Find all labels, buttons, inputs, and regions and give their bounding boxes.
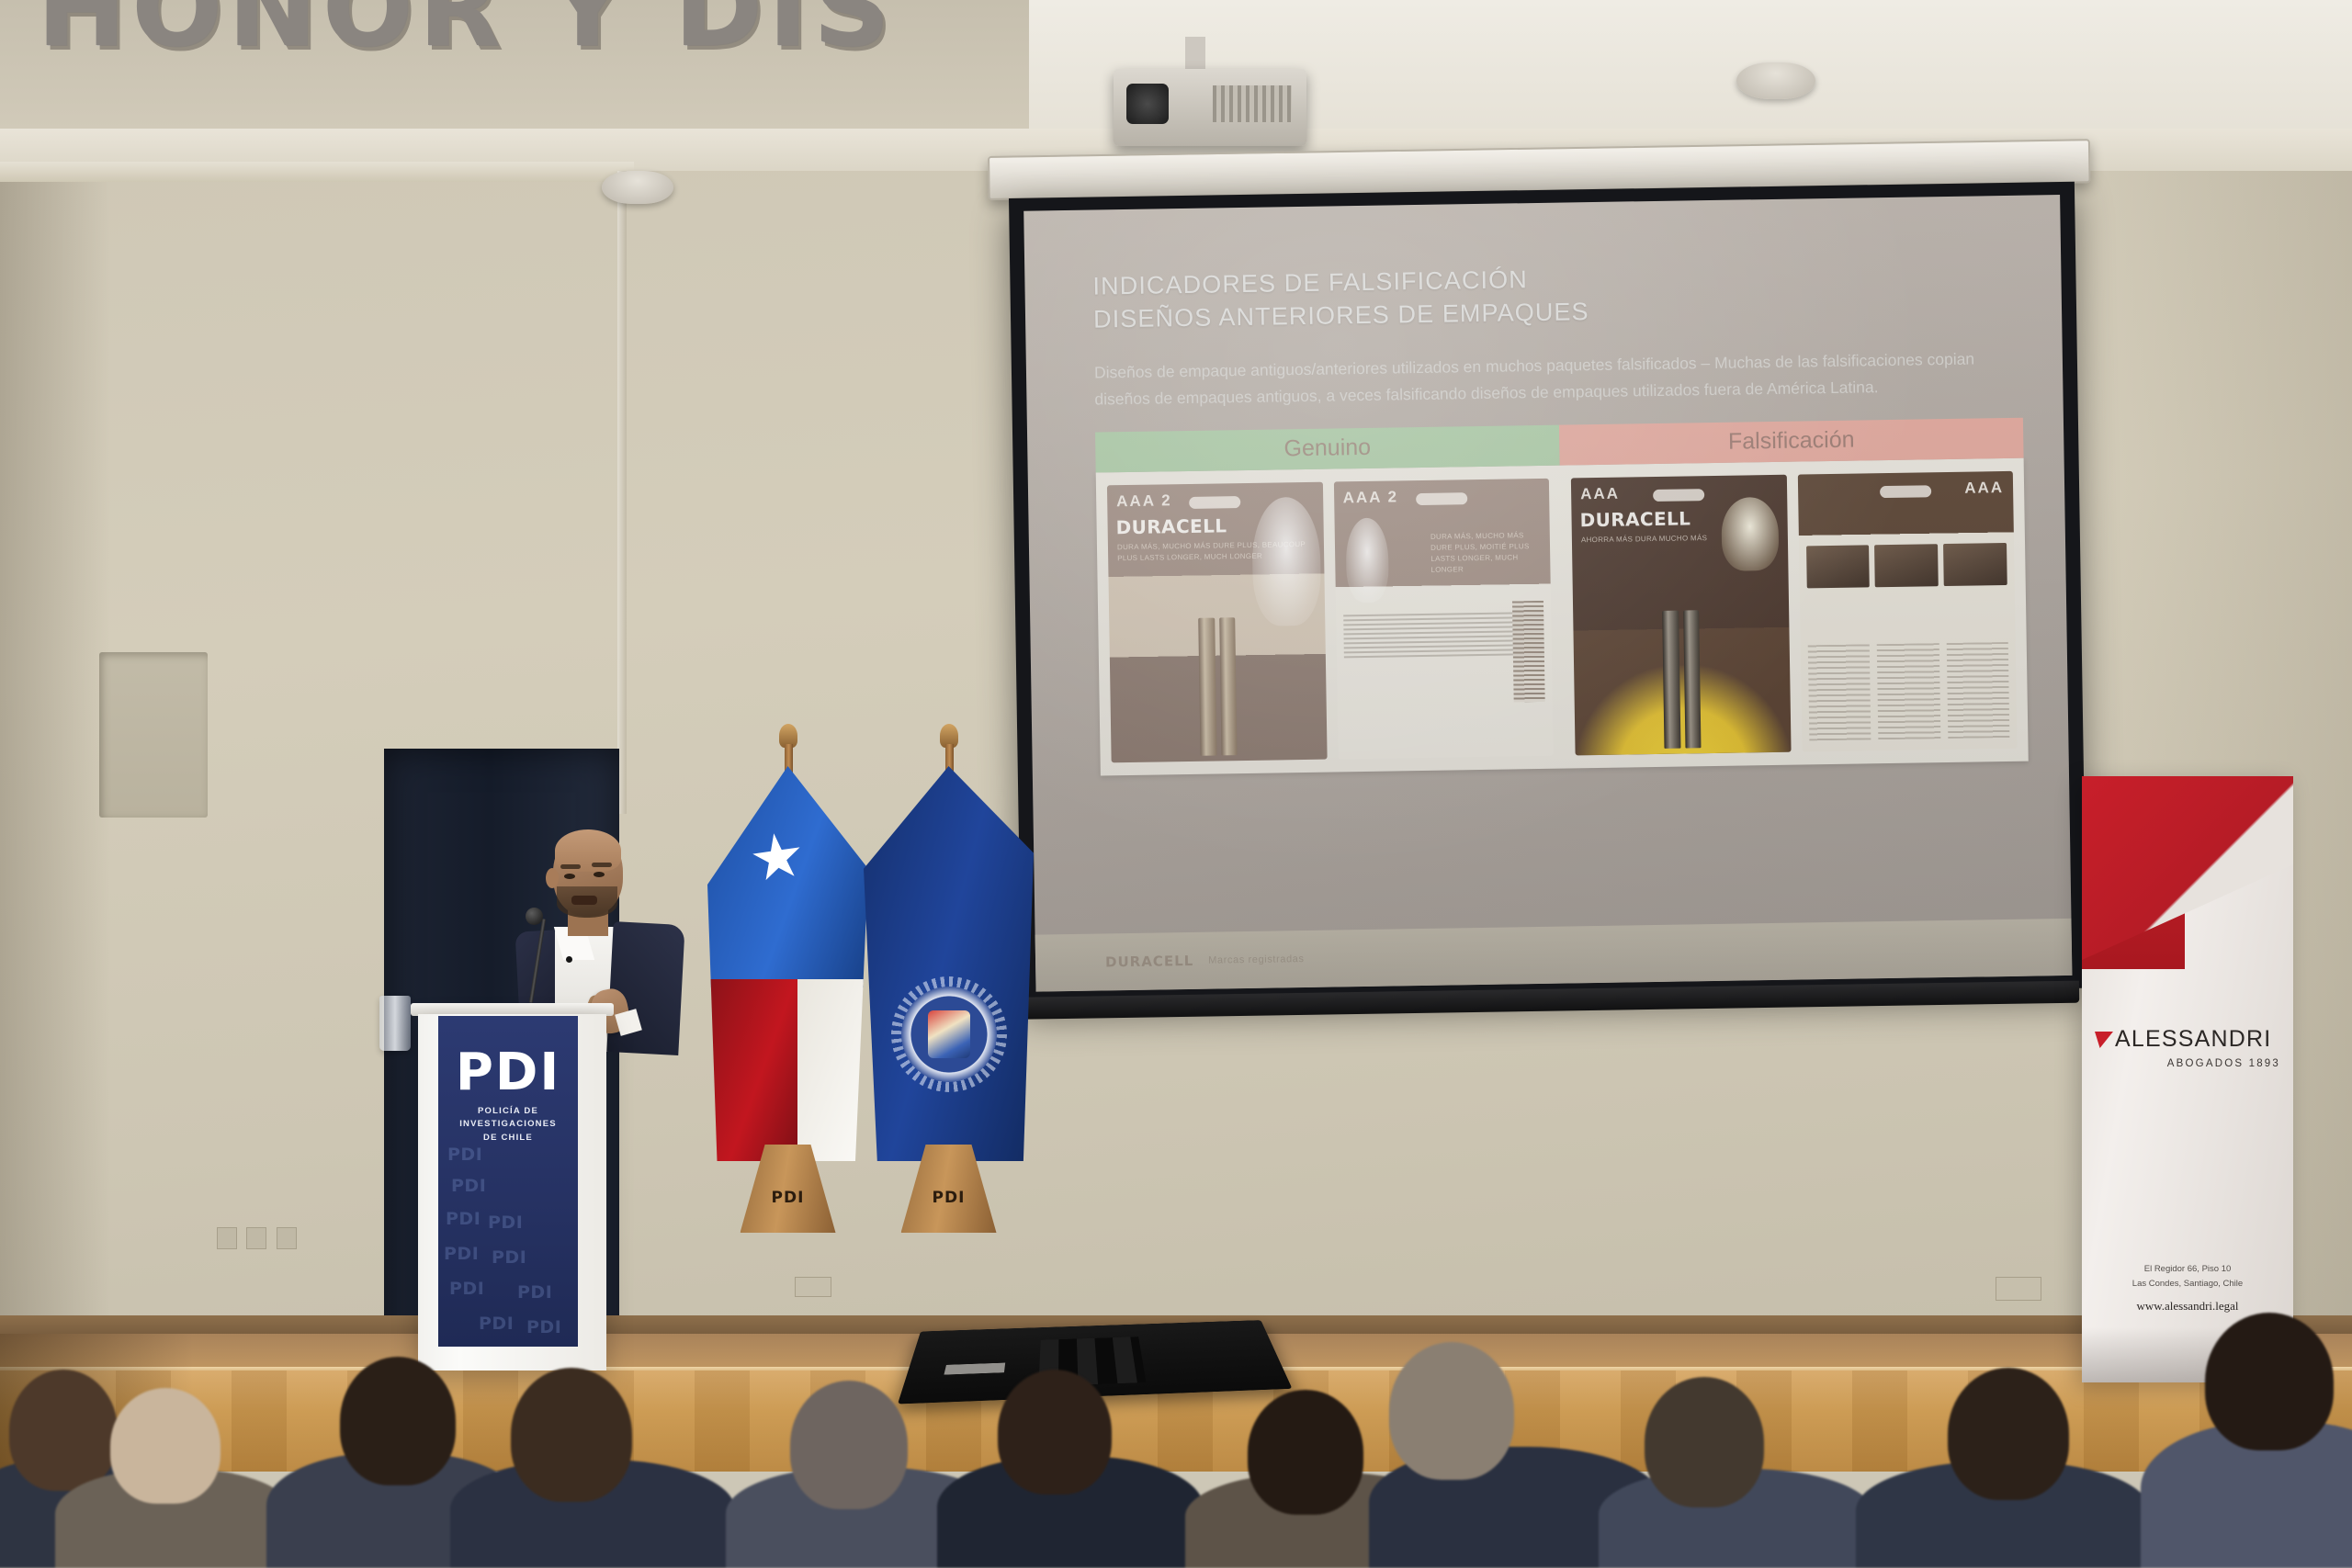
audience-head — [110, 1388, 220, 1504]
audience-head — [790, 1381, 908, 1509]
flag-red-band — [707, 979, 801, 1161]
banner-address: El Regidor 66, Piso 10 Las Condes, Santi… — [2082, 1262, 2293, 1316]
pdi-subtitle-line1: POLICÍA DE INVESTIGACIONES — [438, 1105, 578, 1132]
lectern-branding-panel: PDI POLICÍA DE INVESTIGACIONES DE CHILE … — [438, 1016, 578, 1347]
pdi-watermark: PDI — [447, 1145, 482, 1165]
flag-blue-canton — [707, 766, 868, 987]
pdi-subtitle-line2: DE CHILE — [438, 1132, 578, 1145]
package-size-label: AAA 2 — [1343, 488, 1399, 507]
pdi-watermark: PDI — [488, 1213, 523, 1233]
audience — [0, 1329, 2352, 1568]
jacket-right — [606, 921, 684, 1055]
package-brand-label: DURACELL — [1579, 507, 1690, 531]
banner-logo: ALESSANDRI ABOGADOS 1893 — [2095, 1026, 2284, 1069]
mouth — [571, 896, 597, 905]
alessandri-triangle-icon — [2095, 1032, 2113, 1048]
ceiling-speaker-icon — [602, 171, 673, 204]
venue-motto-sign: HONOR Y DIS — [37, 0, 895, 71]
audience-head — [1248, 1390, 1363, 1515]
wall-outlet — [217, 1227, 237, 1249]
banner-tagline: ABOGADOS 1893 — [2095, 1058, 2284, 1069]
pdi-watermark: PDI — [446, 1209, 481, 1229]
slide-footer-note: Marcas registradas — [1208, 953, 1305, 966]
eye — [594, 872, 605, 877]
fake-packages-column: AAA DURACELL AHORRA MÁS DURA MUCHO MÁS A… — [1560, 458, 2029, 769]
banner-address-line2: Las Condes, Santiago, Chile — [2082, 1277, 2293, 1292]
lectern-body: PDI POLICÍA DE INVESTIGACIONES DE CHILE … — [418, 1014, 606, 1371]
duracell-bunny-icon — [1721, 497, 1779, 571]
duracell-bunny-icon — [1345, 518, 1388, 604]
wall-outlet-right — [1996, 1277, 2041, 1301]
duracell-bunny-icon — [1251, 497, 1321, 626]
pdi-logo-text: PDI — [438, 1047, 578, 1099]
fake-package-front: AAA DURACELL AHORRA MÁS DURA MUCHO MÁS — [1571, 475, 1791, 756]
chile-flag-cloth — [707, 766, 868, 1161]
pdi-watermark: PDI — [451, 1176, 486, 1196]
audience-head — [340, 1357, 456, 1485]
audience-head — [511, 1368, 632, 1502]
hang-hole — [1189, 496, 1240, 509]
genuine-package-back: AAA 2 DURA MÁS, MUCHO MÁS DURE PLUS, MOI… — [1333, 479, 1553, 760]
package-thumbnails — [1806, 543, 2007, 588]
audience-head — [2205, 1313, 2334, 1450]
fake-column-header: Falsificación — [1559, 418, 2024, 466]
ceiling-speaker-icon — [1736, 62, 1815, 99]
genuine-package-front: AAA 2 DURACELL DURA MÁS, MUCHO MÁS DURE … — [1107, 482, 1327, 763]
slide-footer: DURACELL Marcas registradas — [1035, 919, 2073, 992]
ear — [546, 868, 559, 888]
package-size-label: AAA — [1964, 479, 2004, 498]
pdi-subtitle: POLICÍA DE INVESTIGACIONES DE CHILE — [438, 1105, 578, 1145]
battery-cells — [1662, 610, 1701, 749]
comparison-image-row: AAA 2 DURACELL DURA MÁS, MUCHO MÁS DURE … — [1096, 458, 2029, 776]
wall-corner-edge — [617, 171, 627, 814]
microphone-icon — [526, 908, 543, 925]
lapel-microphone-icon — [566, 956, 572, 963]
genuine-packages-column: AAA 2 DURACELL DURA MÁS, MUCHO MÁS DURE … — [1096, 466, 1565, 776]
slide-content: INDICADORES DE FALSIFICACIÓN DISEÑOS ANT… — [1023, 195, 2072, 992]
package-tagline: AHORRA MÁS DURA MUCHO MÁS — [1581, 533, 1707, 546]
chile-flag: PDI — [707, 744, 868, 1231]
banner-red-diagonal — [2082, 776, 2293, 960]
package-size-label: AAA 2 — [1116, 491, 1172, 511]
projector-mount — [1185, 37, 1205, 73]
eye — [564, 874, 575, 879]
pdi-emblem-icon — [901, 987, 997, 1082]
flag-base-plaque: PDI — [772, 1189, 805, 1207]
slide-title: INDICADORES DE FALSIFICACIÓN DISEÑOS ANT… — [1092, 256, 2008, 336]
wall-outlet-group — [217, 1227, 325, 1251]
audience-head — [1389, 1342, 1514, 1480]
pdi-watermark: PDI — [517, 1282, 552, 1303]
pdi-watermark: PDI — [449, 1279, 484, 1299]
banner-address-line1: El Regidor 66, Piso 10 — [2082, 1262, 2293, 1277]
pdi-flag-cloth — [864, 766, 1034, 1161]
projector-lens-icon — [1126, 84, 1169, 124]
wall-shadow-left — [0, 171, 110, 1393]
pdi-watermark-pattern: PDI PDI PDI PDI PDI PDI PDI PDI PDI PDI — [438, 1145, 578, 1347]
pdi-watermark: PDI — [492, 1247, 526, 1268]
lectern: PDI POLICÍA DE INVESTIGACIONES DE CHILE … — [418, 1003, 606, 1371]
hang-hole — [1416, 492, 1467, 505]
barcode-icon — [1512, 601, 1545, 703]
ceiling-projector — [1114, 69, 1306, 146]
slide-body-text: Diseños de empaque antiguos/anteriores u… — [1094, 345, 1996, 412]
projection-screen: INDICADORES DE FALSIFICACIÓN DISEÑOS ANT… — [1009, 182, 2087, 1005]
audience-head — [1948, 1368, 2069, 1500]
pdi-watermark: PDI — [444, 1244, 479, 1264]
hang-hole — [1653, 489, 1704, 502]
package-tagline: DURA MÁS, MUCHO MÁS DURE PLUS, MOITIÉ PL… — [1430, 530, 1543, 576]
projector-vent — [1213, 85, 1292, 122]
audience-head — [9, 1370, 118, 1491]
duracell-footer-logo: DURACELL — [1105, 953, 1193, 971]
wall-outlet — [277, 1227, 297, 1249]
pdi-logo: PDI POLICÍA DE INVESTIGACIONES DE CHILE — [438, 1047, 578, 1145]
package-brand-label: DURACELL — [1115, 514, 1227, 538]
banner-brand-name: ALESSANDRI — [2115, 1026, 2271, 1052]
package-size-label: AAA — [1580, 485, 1620, 504]
wall-outlet-center — [795, 1277, 831, 1297]
wall-outlet — [246, 1227, 266, 1249]
eyebrow — [560, 864, 581, 869]
pdi-flag: PDI — [864, 744, 1034, 1231]
eyebrow — [592, 863, 612, 867]
fake-package-back: AAA — [1797, 471, 2017, 752]
wall-niche — [99, 652, 208, 818]
water-glass — [379, 996, 411, 1051]
genuine-column-header: Genuino — [1095, 425, 1560, 473]
alessandri-banner: ALESSANDRI ABOGADOS 1893 El Regidor 66, … — [2082, 776, 2293, 1382]
presentation-photo: HONOR Y DIS INDICADORES DE FALSIFICACIÓN… — [0, 0, 2352, 1568]
package-fine-print — [1807, 642, 2009, 740]
hang-hole — [1880, 485, 1931, 498]
battery-cells — [1198, 617, 1237, 756]
audience-head — [998, 1370, 1112, 1495]
flag-white-band — [797, 979, 868, 1161]
wall-trim-band — [0, 162, 634, 182]
audience-head — [1645, 1377, 1764, 1507]
flag-base-plaque: PDI — [933, 1189, 966, 1207]
